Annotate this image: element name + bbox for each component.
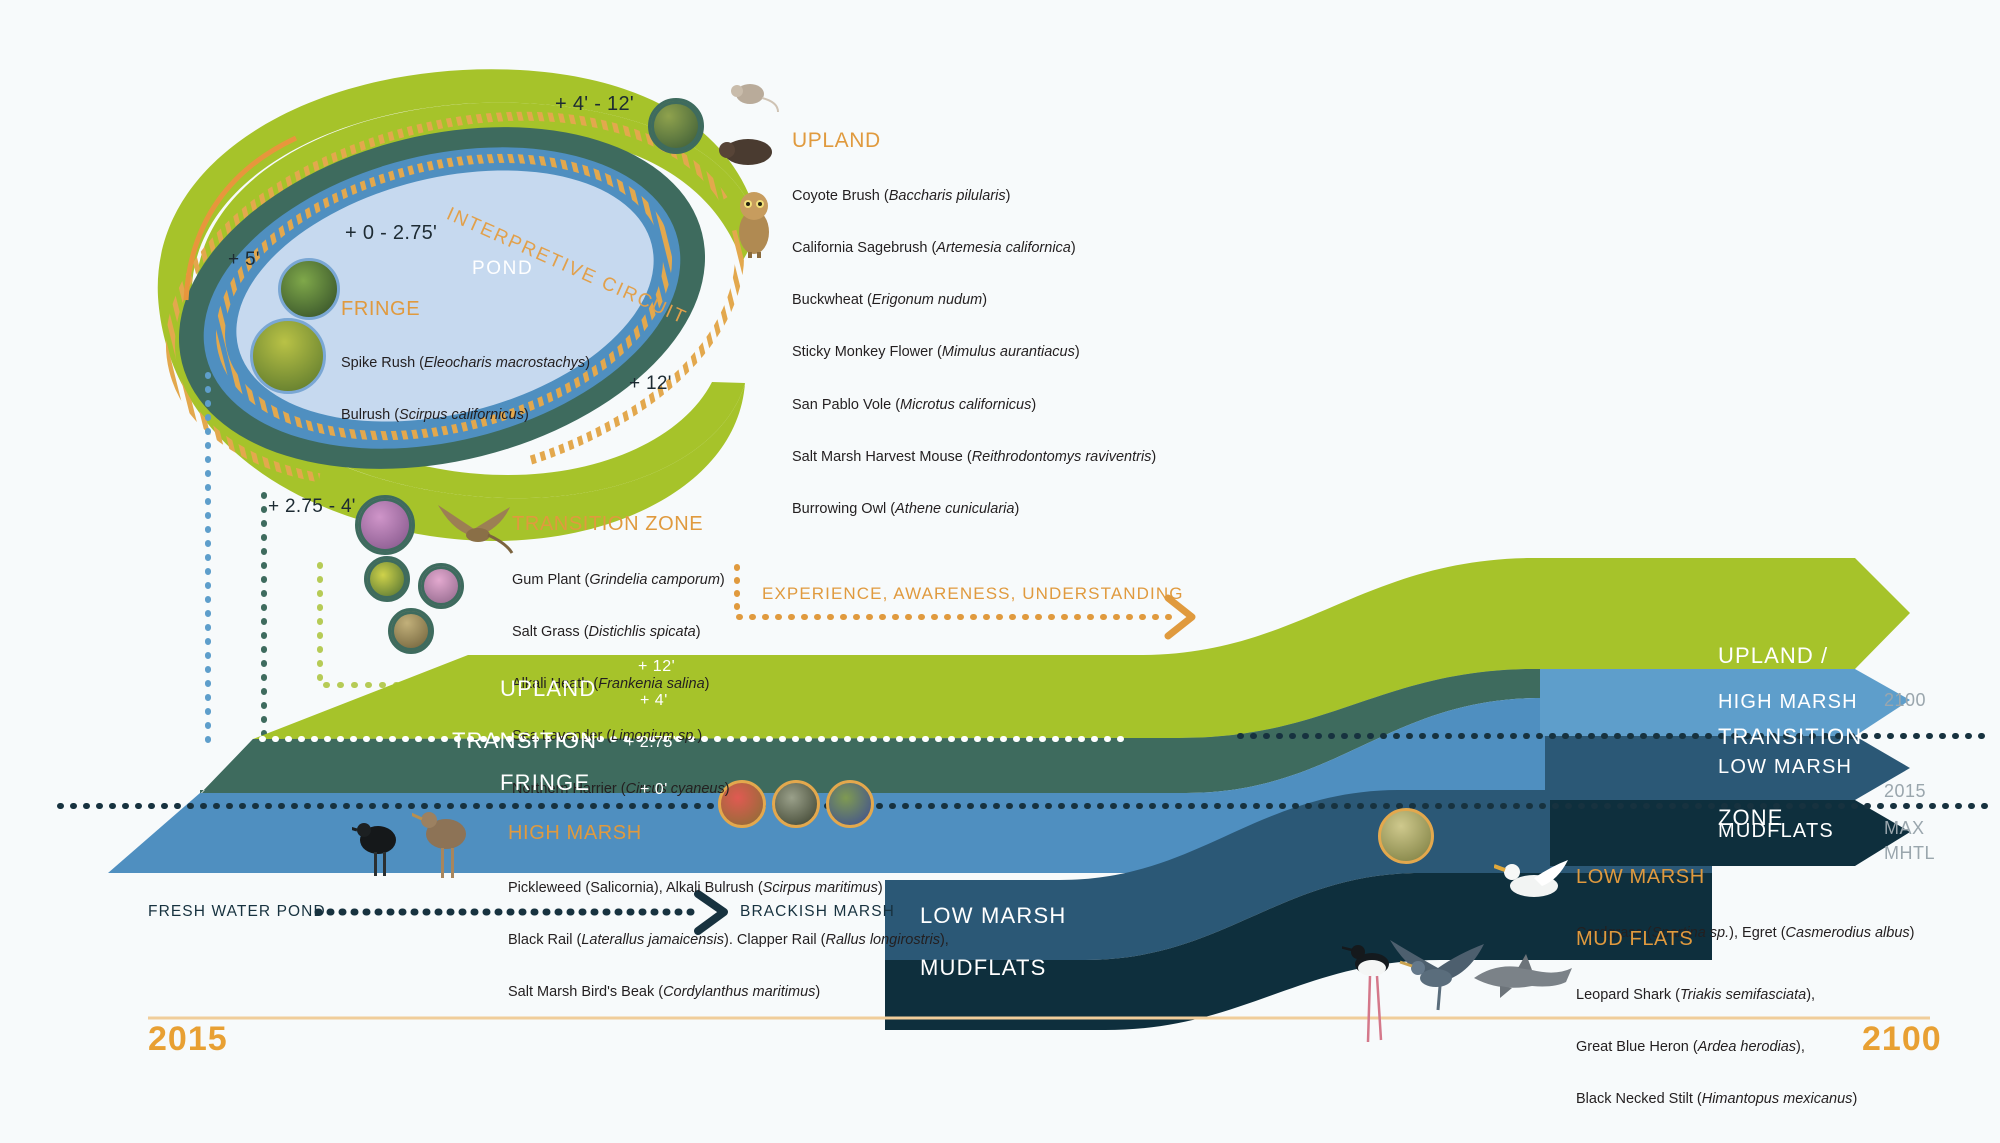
timeline-start-year: 2015 — [148, 1020, 228, 1059]
mud-flats-species-2: Black Necked Stilt (Himantopus mexicanus… — [1576, 1091, 1857, 1108]
critter-egret — [1494, 850, 1574, 914]
upland-block-title: UPLAND — [792, 129, 881, 153]
upland-species-6: Burrowing Owl (Athene cunicularia) — [792, 501, 1156, 518]
flow-label-fresh-water-pond: FRESH WATER POND — [148, 903, 326, 921]
band-label-transition: TRANSITION — [452, 728, 597, 754]
transition-species-1: Salt Grass (Distichlis spicata) — [512, 624, 730, 641]
critter-vole — [718, 132, 778, 168]
high-marsh-block-title: HIGH MARSH — [508, 822, 642, 845]
arrow-label-utz-line1: UPLAND / — [1718, 642, 1862, 669]
photo-cordgrass — [1378, 808, 1434, 864]
photo-gum-plant — [355, 495, 415, 555]
fringe-title: FRINGE — [341, 298, 420, 321]
photo-upland-shrub — [648, 98, 704, 154]
band-label-fringe: FRINGE — [500, 770, 590, 796]
leader-transition — [264, 495, 352, 741]
critter-burrowing-owl — [730, 188, 778, 258]
critter-black-rail — [352, 812, 408, 882]
transition-block-title: TRANSITION ZONE — [512, 513, 703, 536]
fringe-species-list: Spike Rush (Eleocharis macrostachys) Bul… — [341, 320, 590, 459]
critter-clapper-rail — [412, 800, 478, 884]
mud-flats-species-list: Leopard Shark (Triakis semifasciata), Gr… — [1576, 952, 1857, 1143]
transition-species-0: Gum Plant (Grindelia camporum) — [512, 572, 730, 589]
photo-spike-rush — [278, 258, 340, 320]
low-marsh-block-title: LOW MARSH — [1576, 866, 1705, 889]
upland-species-1: California Sagebrush (Artemesia californ… — [792, 240, 1156, 257]
high-marsh-species-list: Pickleweed (Salicornia), Alkali Bulrush … — [508, 845, 949, 1036]
band-elevation-4: + 4' — [640, 692, 668, 710]
upland-species-3: Sticky Monkey Flower (Mimulus aurantiacu… — [792, 344, 1156, 361]
flow-label-brackish-marsh: BRACKISH MARSH — [740, 903, 895, 921]
datum-label-mhtl: MHTL — [1884, 843, 1935, 864]
high-marsh-species-2: Salt Marsh Bird's Beak (Cordylanthus mar… — [508, 984, 949, 1001]
elevation-left-edge: + 5' — [228, 249, 260, 271]
critter-leopard-shark — [1470, 952, 1576, 1000]
elevation-transition-zone: + 2.75 - 4' — [268, 496, 356, 518]
band-elevation-12: + 12' — [638, 658, 675, 676]
photo-sea-lavender — [388, 608, 434, 654]
fringe-species-1: Bulrush (Scirpus californicus) — [341, 407, 590, 424]
high-marsh-species-1: Black Rail (Laterallus jamaicensis). Cla… — [508, 932, 949, 949]
photo-marsh-plant — [826, 780, 874, 828]
high-marsh-species-0: Pickleweed (Salicornia), Alkali Bulrush … — [508, 880, 949, 897]
arrow-label-mudflats: MUDFLATS — [1718, 820, 1834, 843]
experience-arrow-label: EXPERIENCE, AWARENESS, UNDERSTANDING — [762, 584, 1184, 604]
band-label-upland: UPLAND — [500, 676, 596, 702]
upland-species-5: Salt Marsh Harvest Mouse (Reithrodontomy… — [792, 449, 1156, 466]
datum-label-2015: 2015 — [1884, 781, 1926, 802]
critter-northern-harrier — [430, 495, 516, 559]
band-high-marsh-right — [1540, 669, 1710, 736]
datum-label-max: MAX — [1884, 818, 1925, 839]
arrow-label-low-marsh: LOW MARSH — [1718, 756, 1852, 779]
fringe-species-0: Spike Rush (Eleocharis macrostachys) — [341, 355, 590, 372]
band-mudflats-right — [1550, 800, 1710, 866]
mud-flats-species-0: Leopard Shark (Triakis semifasciata), — [1576, 987, 1857, 1004]
photo-bulrush — [250, 318, 326, 394]
upland-species-list: Coyote Brush (Baccharis pilularis) Calif… — [792, 153, 1156, 553]
upland-species-0: Coyote Brush (Baccharis pilularis) — [792, 188, 1156, 205]
critter-harvest-mouse — [728, 78, 782, 114]
mud-flats-species-1: Great Blue Heron (Ardea herodias), — [1576, 1039, 1857, 1056]
upland-species-4: San Pablo Vole (Microtus californicus) — [792, 397, 1156, 414]
photo-alkali-heath — [418, 563, 464, 609]
band-elevation-275: + 2.75' — [625, 734, 676, 752]
datum-label-2100: 2100 — [1884, 690, 1926, 711]
timeline-end-year: 2100 — [1862, 1020, 1942, 1059]
band-elevation-0: + 0' — [640, 781, 668, 799]
photo-alkali-bulrush — [772, 780, 820, 828]
mud-flats-block-title: MUD FLATS — [1576, 928, 1693, 951]
arrow-label-high-marsh: HIGH MARSH — [1718, 691, 1858, 714]
elevation-outer-circuit: + 12' — [629, 373, 672, 395]
band-low-marsh-right — [1545, 736, 1710, 800]
photo-salt-grass — [364, 556, 410, 602]
critter-black-necked-stilt — [1342, 930, 1402, 1048]
upland-species-2: Buckwheat (Erigonum nudum) — [792, 292, 1156, 309]
arrow-label-utz-line2: TRANSITION — [1718, 723, 1862, 750]
elevation-upland-top: + 4' - 12' — [555, 93, 634, 116]
